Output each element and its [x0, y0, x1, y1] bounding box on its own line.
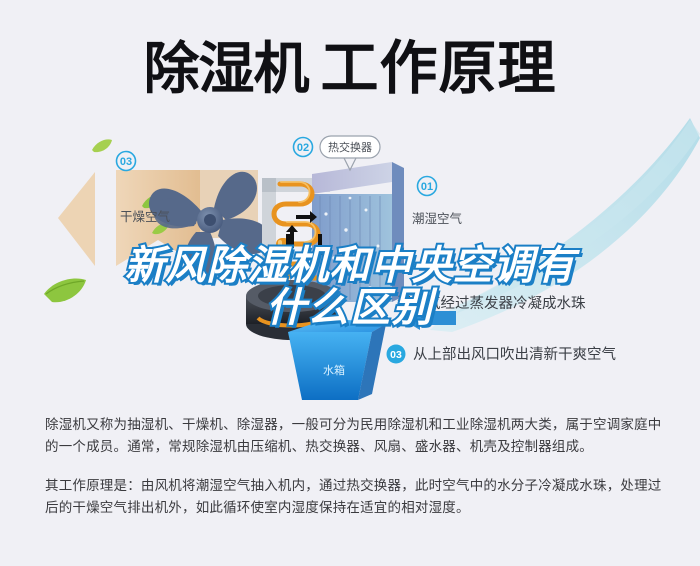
water-tank-label: 水箱: [323, 363, 345, 377]
paragraph-1: 除湿机又称为抽湿机、干燥机、除湿器，一般可分为民用除湿机和工业除湿机两大类，属于…: [45, 414, 665, 458]
label-dry-air-text: 干燥空气: [120, 209, 171, 224]
dehumidifier-diagram: 水箱 02 热交换器 01 潮湿空气 03 干燥空气: [0, 118, 700, 404]
step-line-03: 03 从上部出风口吹出清新干爽空气: [387, 345, 617, 364]
label-humid-air-text: 潮湿空气: [412, 211, 463, 226]
water-tank: 水箱: [288, 318, 386, 400]
page-title: 除湿机 工作原理: [0, 28, 700, 110]
article-body: 除湿机又称为抽湿机、干燥机、除湿器，一般可分为民用除湿机和工业除湿机两大类，属于…: [45, 414, 665, 519]
step-02-text: 湿空气经过蒸发器冷凝成水珠: [397, 295, 586, 312]
page-root: 除湿机 工作原理: [0, 0, 700, 566]
step-03-text: 从上部出风口吹出清新干爽空气: [413, 346, 616, 363]
step-line-02: 湿空气经过蒸发器冷凝成水珠: [397, 295, 586, 312]
title-light-text: 工作原理: [320, 40, 556, 98]
heat-exchanger-coil: [312, 162, 404, 302]
badge-02-text: 02: [297, 142, 309, 154]
badge-01-text: 01: [421, 181, 433, 193]
badge-03-text: 03: [120, 156, 132, 168]
title-strong-text: 除湿机: [143, 41, 308, 97]
callout-heat-exchanger: 02 热交换器: [294, 136, 381, 170]
label-humid-air: 01 潮湿空气: [412, 177, 463, 227]
leaf-icon-1: [44, 279, 86, 303]
step-03-badge-text: 03: [390, 349, 402, 361]
leaf-icon-2: [92, 139, 112, 152]
paragraph-2: 其工作原理是：由风机将潮湿空气抽入机内，通过热交换器，此时空气中的水分子冷凝成水…: [45, 475, 665, 519]
callout-heat-exchanger-text: 热交换器: [328, 140, 372, 154]
